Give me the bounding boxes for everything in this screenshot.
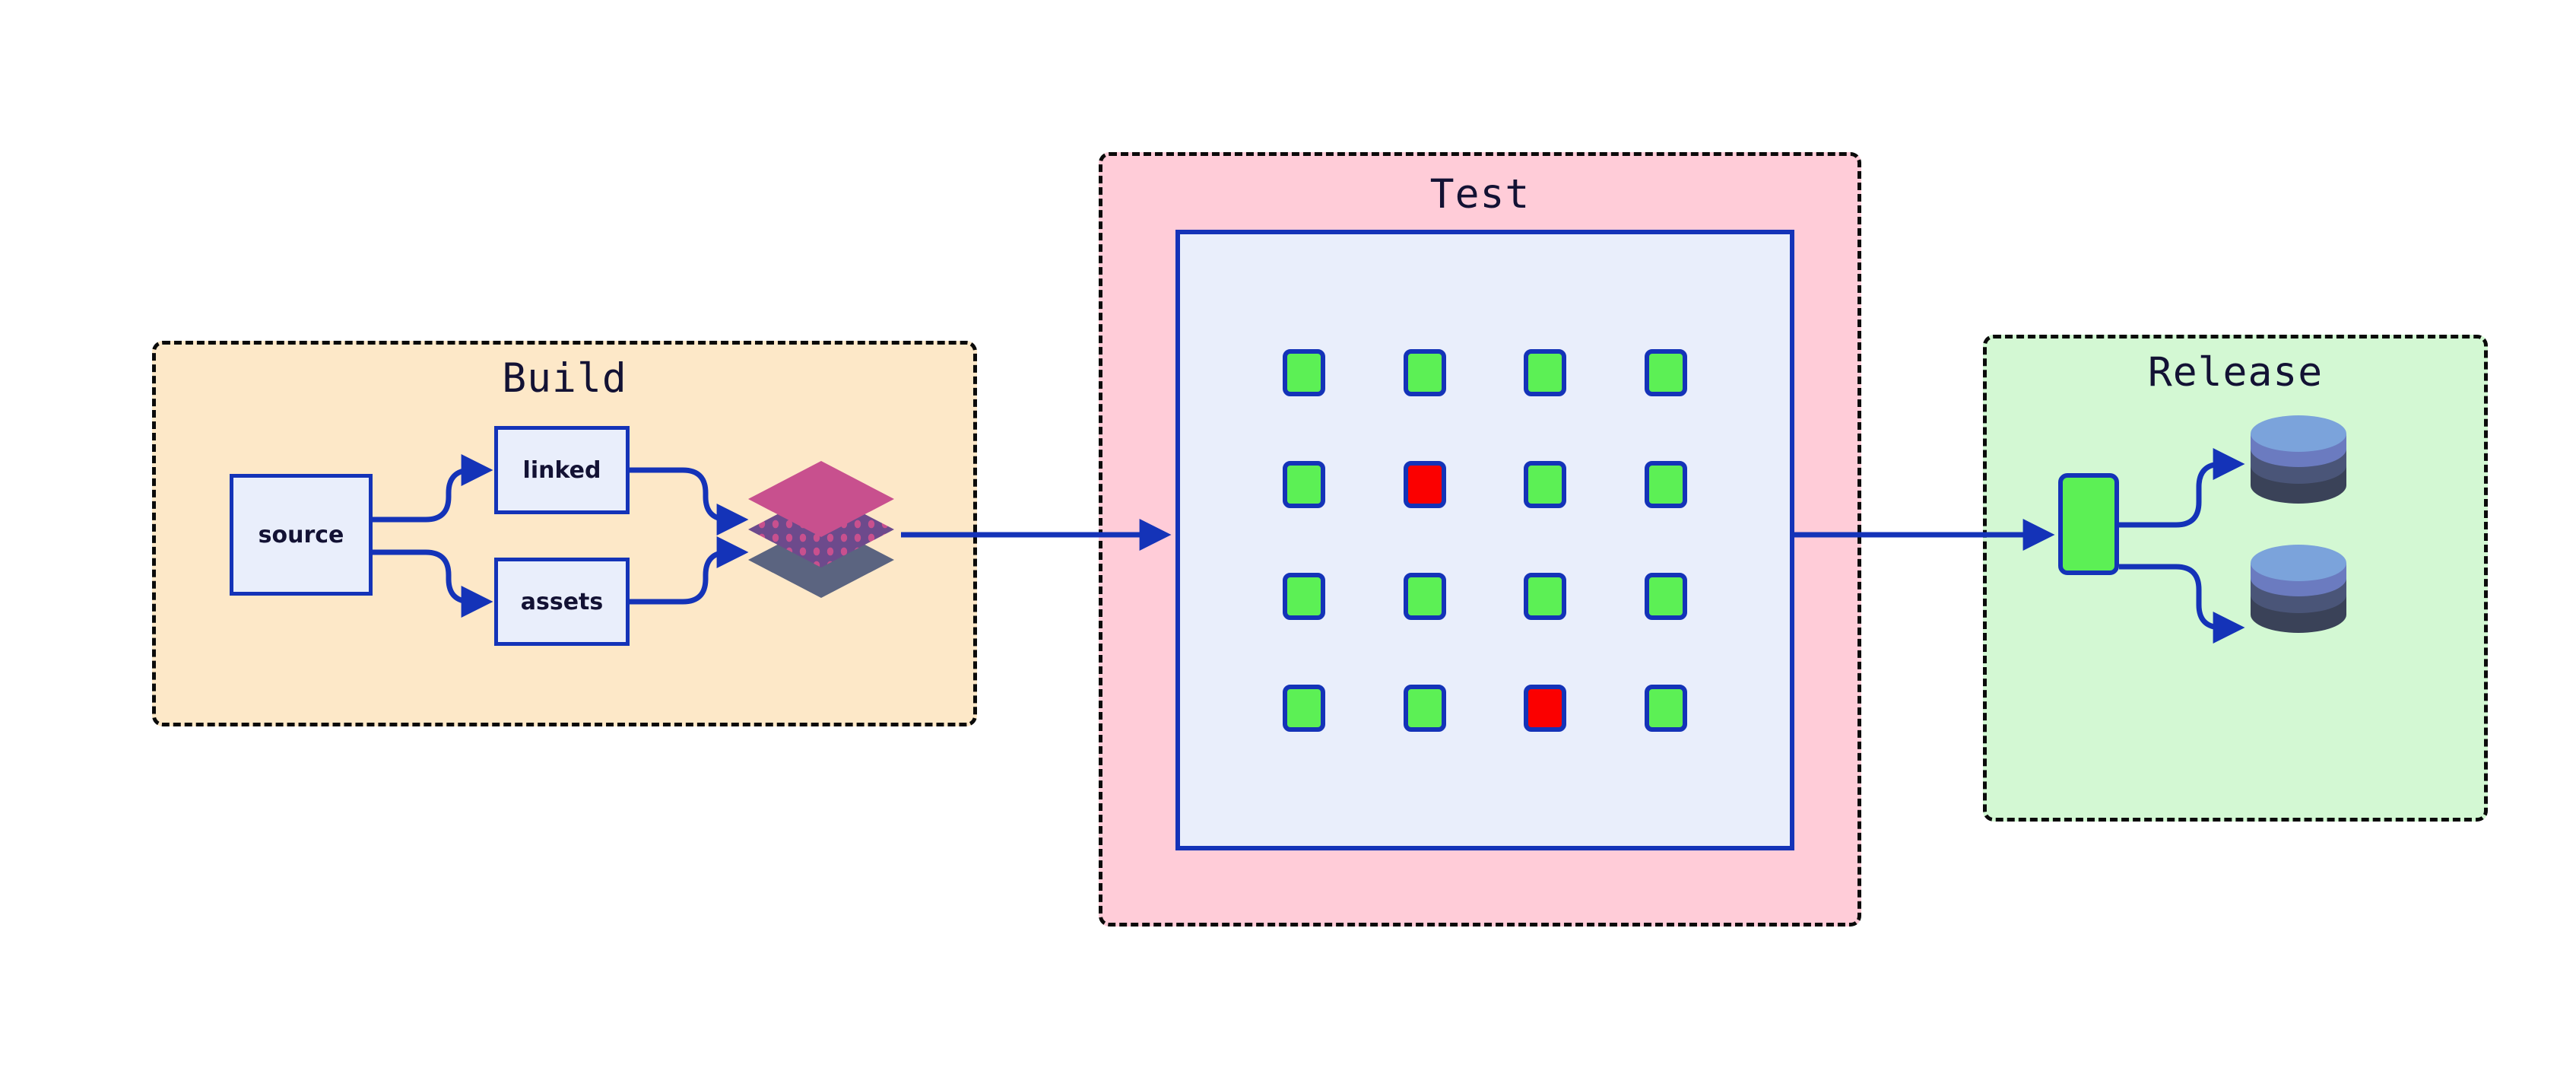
node-source-label: source (259, 522, 344, 548)
test-cell-pass[interactable] (1283, 573, 1325, 620)
test-cell-fail[interactable] (1404, 461, 1446, 508)
cluster-release: Release (1983, 335, 2488, 822)
cluster-test-title: Test (1102, 171, 1857, 218)
node-assets[interactable]: assets (494, 558, 630, 646)
cluster-release-title: Release (1987, 349, 2484, 396)
database-cylinder-icon[interactable] (2249, 543, 2348, 634)
test-grid-panel (1175, 230, 1794, 850)
test-cell-pass[interactable] (1645, 573, 1687, 620)
node-release-artifact[interactable] (2058, 473, 2119, 575)
test-cell-pass[interactable] (1645, 685, 1687, 732)
test-cell-pass[interactable] (1645, 349, 1687, 396)
test-cell-fail[interactable] (1524, 685, 1566, 732)
diagram-canvas: Build source linked assets Test (0, 0, 2576, 1068)
node-assets-label: assets (521, 589, 604, 615)
test-cell-pass[interactable] (1283, 349, 1325, 396)
test-grid (1180, 234, 1790, 846)
test-cell-pass[interactable] (1524, 349, 1566, 396)
node-linked-label: linked (523, 457, 601, 484)
test-cell-pass[interactable] (1404, 685, 1446, 732)
test-cell-pass[interactable] (1524, 573, 1566, 620)
db-top-ellipse (2251, 545, 2346, 581)
db-top-ellipse (2251, 415, 2346, 452)
test-cell-pass[interactable] (1524, 461, 1566, 508)
node-source[interactable]: source (230, 474, 373, 596)
test-cell-pass[interactable] (1404, 573, 1446, 620)
test-cell-pass[interactable] (1283, 685, 1325, 732)
cluster-build-title: Build (156, 355, 973, 402)
test-cell-pass[interactable] (1283, 461, 1325, 508)
layers-stack-icon[interactable] (741, 449, 901, 610)
test-cell-pass[interactable] (1645, 461, 1687, 508)
database-cylinder-icon[interactable] (2249, 414, 2348, 505)
test-cell-pass[interactable] (1404, 349, 1446, 396)
node-linked[interactable]: linked (494, 426, 630, 514)
